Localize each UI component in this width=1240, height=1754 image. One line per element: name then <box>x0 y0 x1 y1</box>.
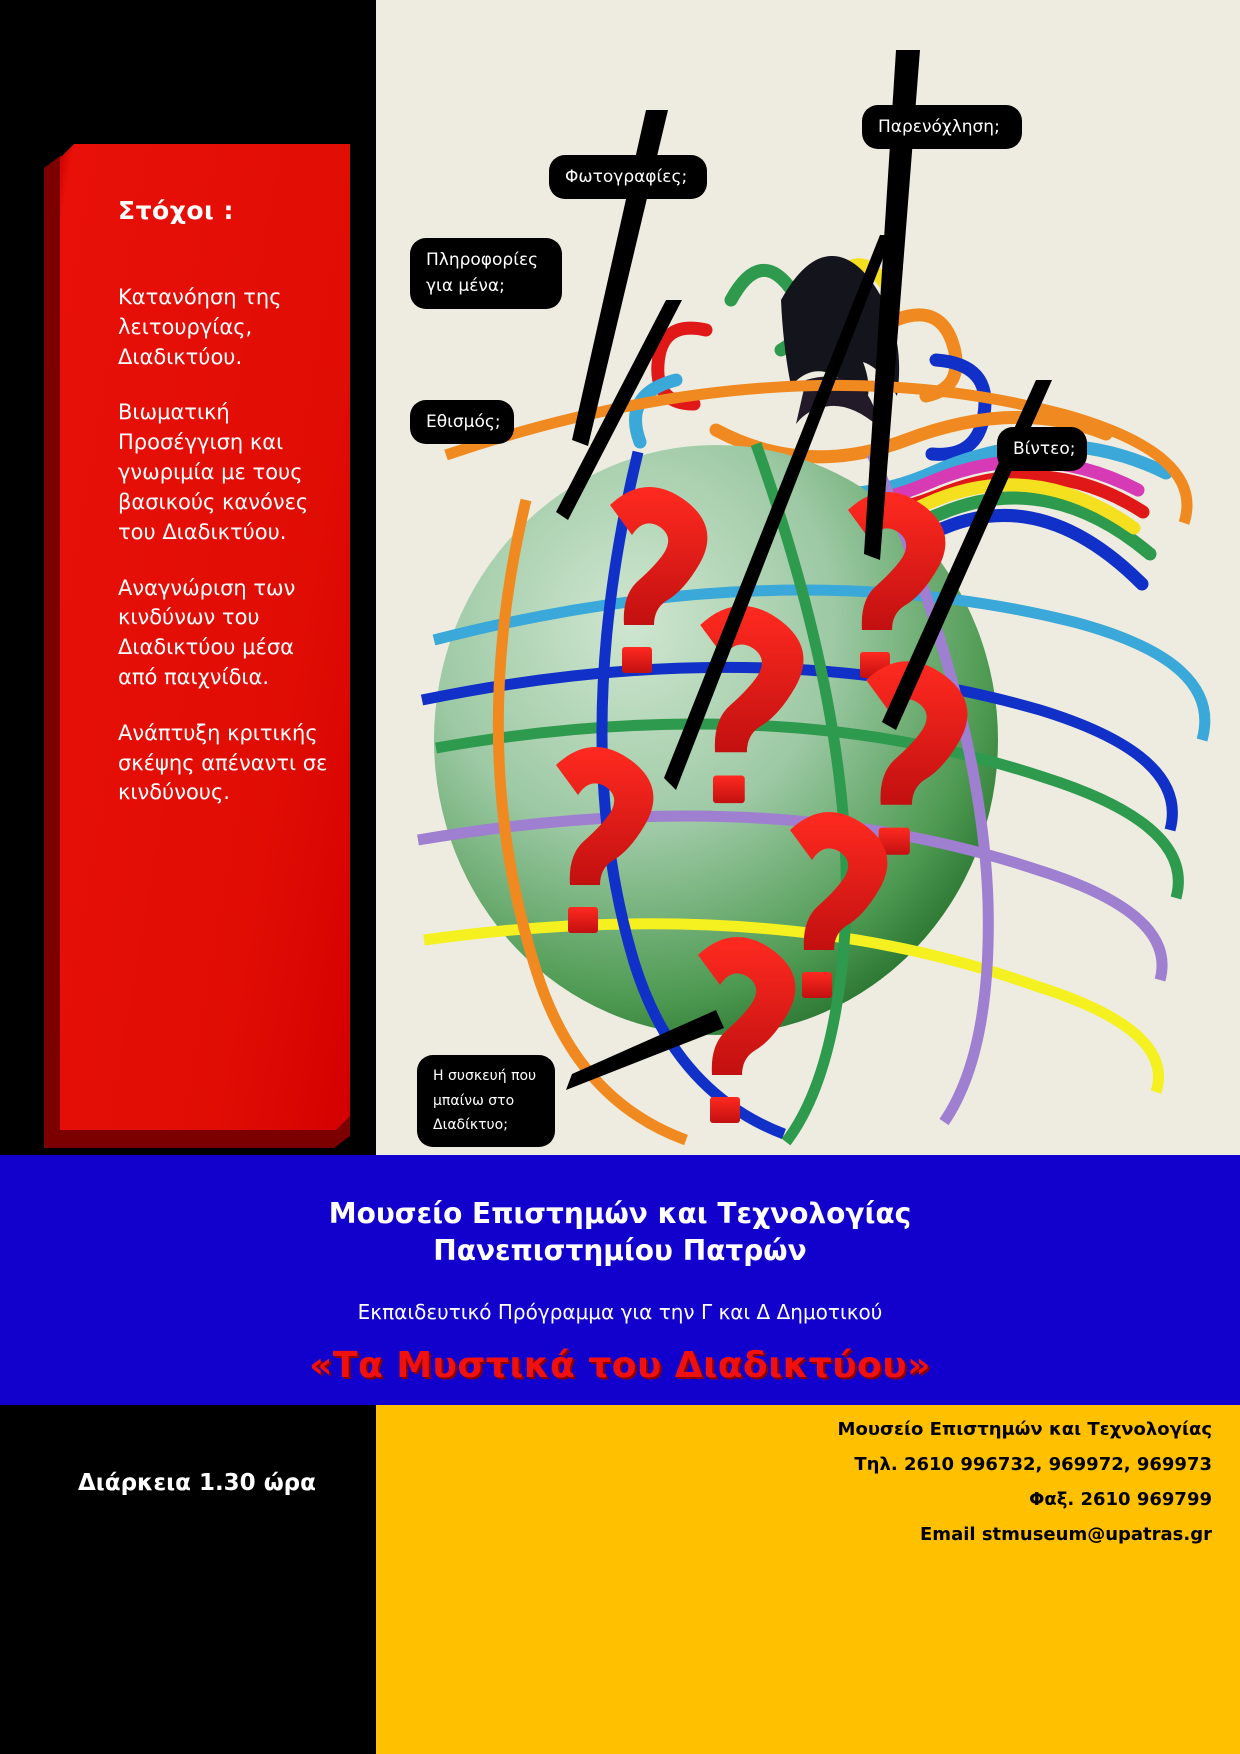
museum-name: Μουσείο Επιστημών και Τεχνολογίας Πανεπι… <box>0 1195 1240 1269</box>
bubble-vinteo[interactable]: Βίντεο; <box>997 427 1087 471</box>
contact-museum: Μουσείο Επιστημών και Τεχνολογίας <box>612 1412 1212 1447</box>
bubble-ethismos[interactable]: Εθισμός; <box>410 400 514 444</box>
goal-item: Ανάπτυξη κριτικής σκέψης απέναντι σε κιν… <box>118 719 328 808</box>
bubble-fotografies[interactable]: Φωτογραφίες; <box>549 155 707 199</box>
goal-item: Κατανόηση της λειτουργίας, Διαδικτύου. <box>118 283 328 372</box>
bubble-parenochlisi[interactable]: Παρενόχληση; <box>862 105 1022 149</box>
contact-details: Μουσείο Επιστημών και Τεχνολογίας Τηλ. 2… <box>612 1412 1212 1552</box>
duration-label: Διάρκεια 1.30 ώρα <box>78 1470 378 1496</box>
program-subtitle: Εκπαιδευτικό Πρόγραμμα για την Γ και Δ Δ… <box>0 1300 1240 1324</box>
globe-svg <box>376 0 1240 1155</box>
poster-title: «Τα Μυστικά του Διαδικτύου» <box>0 1345 1240 1386</box>
museum-name-line2: Πανεπιστημίου Πατρών <box>0 1232 1240 1269</box>
contact-email: Email stmuseum@upatras.gr <box>612 1517 1212 1552</box>
goal-item: Αναγνώριση των κινδύνων του Διαδικτύου μ… <box>118 574 328 693</box>
bubble-syskevi[interactable]: Η συσκευή που μπαίνω στο Διαδίκτυο; <box>417 1055 555 1147</box>
museum-name-line1: Μουσείο Επιστημών και Τεχνολογίας <box>0 1195 1240 1232</box>
contact-fax: Φαξ. 2610 969799 <box>612 1482 1212 1517</box>
bubble-plirofories[interactable]: Πληροφορίες για μένα; <box>410 238 562 309</box>
globe-illustration <box>376 0 1240 1155</box>
contact-phone: Τηλ. 2610 996732, 969972, 969973 <box>612 1447 1212 1482</box>
goal-item: Βιωματική Προσέγγιση και γνωριμία με του… <box>118 398 328 547</box>
goals-panel: Στόχοι : Κατανόηση της λειτουργίας, Διαδ… <box>60 144 350 1130</box>
poster-root: Στόχοι : Κατανόηση της λειτουργίας, Διαδ… <box>0 0 1240 1754</box>
goals-title: Στόχοι : <box>118 196 328 225</box>
